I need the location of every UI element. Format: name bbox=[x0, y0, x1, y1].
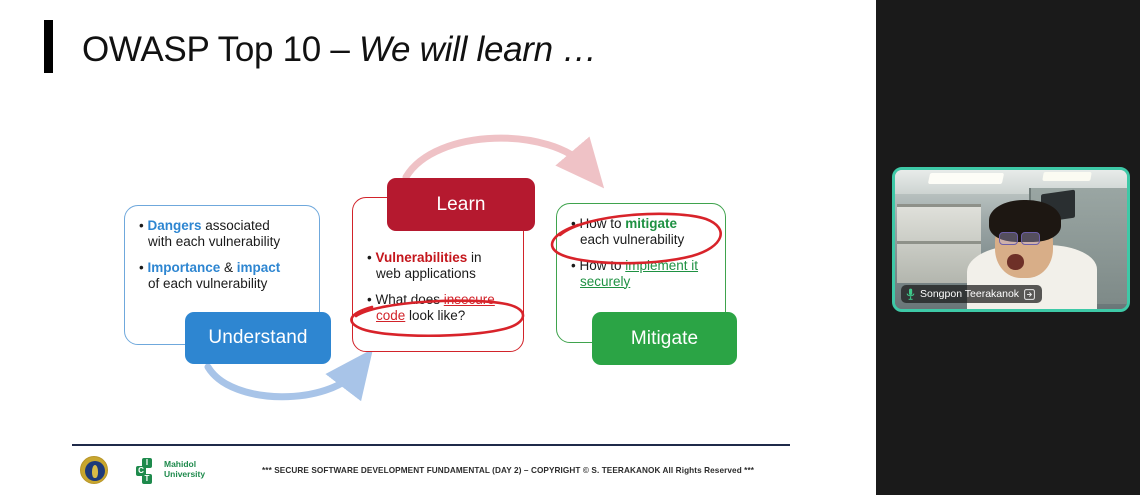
video-person-glasses bbox=[999, 232, 1043, 243]
title-accent-bar bbox=[44, 20, 53, 73]
bullet-insecure-plain: What does bbox=[375, 292, 443, 307]
bullet-mitigate-highlight: mitigate bbox=[625, 216, 677, 231]
card-understand-bullets: • Dangers associated with each vulnerabi… bbox=[125, 206, 292, 302]
tag-learn-label: Learn bbox=[436, 194, 485, 216]
video-tile-participant[interactable]: Songpon Teerakanok bbox=[892, 167, 1130, 312]
arrow-learn-to-mitigate bbox=[406, 138, 586, 177]
bullet-vulnerabilities-line2: web applications bbox=[367, 266, 476, 281]
bullet-insecure-underline: insecure bbox=[444, 292, 495, 307]
bullet-mitigate: • How to mitigate each vulnerability bbox=[571, 216, 698, 247]
pin-video-icon[interactable] bbox=[1024, 289, 1035, 300]
copyright-text: *** SECURE SOFTWARE DEVELOPMENT FUNDAMEN… bbox=[262, 466, 754, 475]
learning-flow-diagram: • Dangers associated with each vulnerabi… bbox=[0, 105, 876, 405]
mahidol-seal-logo-icon bbox=[80, 456, 108, 484]
page-title-italic: We will learn … bbox=[359, 30, 597, 69]
bullet-insecure-code: • What does insecure code look like? bbox=[367, 292, 495, 323]
bullet-importance-line2: of each vulnerability bbox=[139, 276, 267, 291]
card-mitigate-bullets: • How to mitigate each vulnerability • H… bbox=[557, 204, 710, 300]
tag-mitigate[interactable]: Mitigate bbox=[592, 312, 737, 365]
ict-logo-icon: I C T bbox=[136, 458, 160, 484]
video-ceiling-light bbox=[928, 173, 1004, 184]
bullet-vulnerabilities: • Vulnerabilities in web applications bbox=[367, 250, 495, 281]
university-name-line1: Mahidol bbox=[164, 459, 205, 469]
tag-mitigate-label: Mitigate bbox=[631, 328, 698, 350]
university-name-line2: University bbox=[164, 469, 205, 479]
shared-slide: OWASP Top 10 – We will learn … bbox=[0, 0, 876, 495]
tag-understand[interactable]: Understand bbox=[185, 312, 331, 364]
bullet-dangers: • Dangers associated with each vulnerabi… bbox=[139, 218, 280, 249]
participant-name: Songpon Teerakanok bbox=[920, 288, 1019, 300]
bullet-dangers-rest: associated bbox=[202, 218, 270, 233]
bullet-implement-underline: implement it bbox=[625, 258, 698, 273]
bullet-impact-highlight: impact bbox=[237, 260, 281, 275]
page-title-regular: OWASP Top 10 – bbox=[82, 30, 359, 69]
participants-panel: Songpon Teerakanok bbox=[876, 0, 1140, 495]
bullet-insecure-line2-rest: look like? bbox=[405, 308, 465, 323]
bullet-implement-securely: • How to implement it securely bbox=[571, 258, 698, 289]
bullet-vulnerabilities-highlight: Vulnerabilities bbox=[375, 250, 467, 265]
tag-understand-label: Understand bbox=[208, 327, 307, 349]
microphone-icon bbox=[906, 288, 915, 300]
bullet-implement-line2-underline: securely bbox=[580, 274, 630, 289]
university-name: Mahidol University bbox=[164, 459, 205, 479]
bullet-dangers-line2: with each vulnerability bbox=[139, 234, 280, 249]
bullet-dangers-highlight: Dangers bbox=[147, 218, 201, 233]
bullet-vulnerabilities-rest: in bbox=[467, 250, 481, 265]
video-person-mouth bbox=[1007, 254, 1024, 270]
bullet-importance-mid: & bbox=[220, 260, 237, 275]
bullet-insecure-line2-underline: code bbox=[376, 308, 405, 323]
footer-divider bbox=[72, 444, 790, 446]
bullet-importance-highlight: Importance bbox=[147, 260, 220, 275]
page-title: OWASP Top 10 – We will learn … bbox=[82, 28, 597, 72]
participant-name-pill: Songpon Teerakanok bbox=[901, 285, 1042, 303]
bullet-importance: • Importance & impact of each vulnerabil… bbox=[139, 260, 280, 291]
tag-learn[interactable]: Learn bbox=[387, 178, 535, 231]
bullet-mitigate-plain: How to bbox=[579, 216, 625, 231]
slide-footer: I C T Mahidol University *** SECURE SOFT… bbox=[72, 452, 802, 488]
bullet-implement-plain: How to bbox=[579, 258, 625, 273]
bullet-mitigate-line2: each vulnerability bbox=[571, 232, 684, 247]
video-ceiling-light bbox=[1042, 172, 1092, 181]
arrow-understand-to-learn bbox=[208, 367, 356, 397]
ict-letter-t: T bbox=[142, 474, 152, 484]
meeting-screen: OWASP Top 10 – We will learn … bbox=[0, 0, 1140, 495]
